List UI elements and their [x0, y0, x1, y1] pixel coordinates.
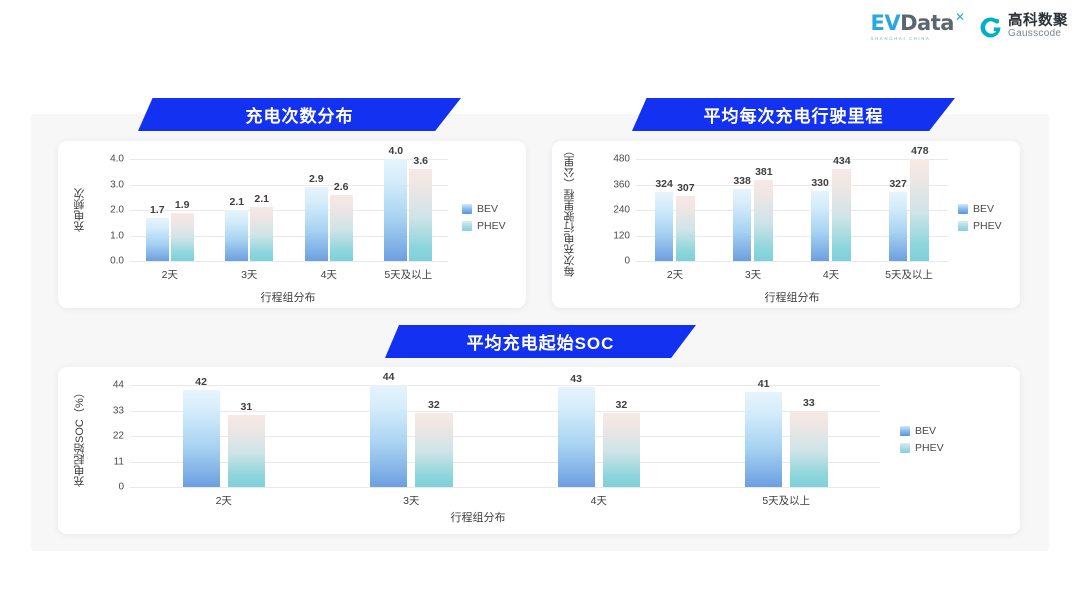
- chart-1-bar-group: 2.92.6: [305, 159, 353, 261]
- chart-2-bar-phev[interactable]: 381: [754, 180, 773, 261]
- chart-1-title-text: 充电次数分布: [246, 102, 354, 127]
- chart-3-legend-swatch-phev: [900, 443, 910, 453]
- chart-1-bar-value-label: 2.1: [230, 196, 245, 208]
- evdata-logo-ev-text: EV: [871, 13, 901, 34]
- chart-1-bar-phev[interactable]: 2.6: [330, 195, 353, 261]
- chart-3-x-tick-label: 3天: [403, 493, 419, 508]
- chart-2-bar-bev[interactable]: 324: [655, 192, 674, 261]
- chart-2-bar-bev[interactable]: 327: [889, 192, 908, 261]
- chart-3-bar-phev[interactable]: 33: [790, 411, 827, 488]
- chart-2-bar-value-label: 324: [655, 178, 673, 190]
- chart-2-legend-label-bev: BEV: [973, 203, 994, 215]
- gausscode-logo: 高科数聚 Gausscode: [979, 14, 1068, 40]
- chart-1-x-tick-label: 5天及以上: [384, 267, 432, 282]
- chart-2-bar-bev[interactable]: 330: [811, 191, 830, 261]
- chart-1-legend-item-phev[interactable]: PHEV: [462, 220, 506, 232]
- evdata-logo-subtitle: SHANGHAI CHINA: [871, 36, 931, 41]
- chart-3-legend-item-bev[interactable]: BEV: [900, 425, 944, 437]
- chart-3-bar-phev[interactable]: 32: [603, 413, 640, 487]
- chart-2-x-tick-label: 5天及以上: [885, 267, 933, 282]
- chart-1-y-tick-label: 0.0: [110, 256, 124, 267]
- chart-1-bar-group: 4.03.6: [384, 159, 432, 261]
- chart-2-x-tick-label: 3天: [745, 267, 761, 282]
- chart-2-plot-area: 01202403604803243073383813304343274782天3…: [636, 159, 948, 261]
- chart-2-legend-label-phev: PHEV: [973, 220, 1002, 232]
- chart-3-card: 充电起始SOC（%）01122334442314432433241332天3天4…: [58, 367, 1020, 534]
- chart-2-y-tick-label: 240: [613, 205, 630, 216]
- chart-3-y-tick-label: 33: [113, 405, 124, 416]
- chart-2-x-tick-label: 4天: [823, 267, 839, 282]
- chart-3-legend: BEVPHEV: [900, 425, 944, 454]
- chart-1-legend-swatch-bev: [462, 204, 472, 214]
- chart-2-legend-swatch-phev: [958, 221, 968, 231]
- chart-3-bar-value-label: 33: [803, 397, 815, 409]
- chart-2-bar-value-label: 307: [677, 182, 695, 194]
- chart-3-bar-value-label: 32: [428, 399, 440, 411]
- evdata-cross-icon: ✕: [955, 10, 965, 24]
- chart-1-bar-value-label: 2.1: [254, 193, 269, 205]
- chart-3-bar-group: 4432: [370, 385, 453, 487]
- chart-3-bar-phev[interactable]: 31: [228, 415, 265, 487]
- chart-3-bar-value-label: 41: [758, 378, 770, 390]
- chart-3-title-text: 平均充电起始SOC: [467, 329, 615, 354]
- chart-2-bar-value-label: 381: [755, 166, 773, 178]
- chart-3-bar-group: 4231: [183, 385, 266, 487]
- chart-2-legend-item-bev[interactable]: BEV: [958, 203, 1002, 215]
- gausscode-g-mark-icon: [979, 16, 1002, 39]
- chart-2-legend: BEVPHEV: [958, 203, 1002, 232]
- chart-2-bar-group: 324307: [655, 159, 696, 261]
- chart-2-card: 每次充电行驶里程（公里）0120240360480324307338381330…: [552, 141, 1020, 308]
- chart-2-bar-value-label: 338: [733, 175, 751, 187]
- chart-2-gridline: [636, 261, 948, 262]
- chart-3-bar-bev[interactable]: 42: [183, 390, 220, 487]
- chart-1-bar-value-label: 3.6: [413, 155, 428, 167]
- chart-3-plot-area: 01122334442314432433241332天3天4天5天及以上: [130, 385, 880, 487]
- chart-1-y-axis-title: 充电频次: [72, 171, 88, 249]
- chart-3-bar-value-label: 44: [383, 371, 395, 383]
- chart-1-bar-phev[interactable]: 3.6: [409, 169, 432, 261]
- chart-1-title-banner: 充电次数分布: [138, 98, 461, 131]
- chart-1-legend-label-phev: PHEV: [477, 220, 506, 232]
- chart-1-bar-group: 2.12.1: [225, 159, 273, 261]
- chart-1-y-tick-label: 3.0: [110, 179, 124, 190]
- chart-2-y-tick-label: 120: [613, 230, 630, 241]
- chart-3-x-tick-label: 2天: [216, 493, 232, 508]
- gausscode-logo-cn: 高科数聚: [1008, 14, 1068, 29]
- chart-2-bar-group: 327478: [889, 159, 930, 261]
- chart-3-gridline: [130, 487, 880, 488]
- chart-2-y-axis-title-line2: （公里）: [562, 145, 578, 189]
- chart-1-x-tick-label: 2天: [162, 267, 178, 282]
- chart-2-bar-phev[interactable]: 478: [910, 159, 929, 261]
- chart-1-bar-phev[interactable]: 2.1: [250, 207, 273, 261]
- chart-1-bar-bev[interactable]: 2.1: [225, 210, 248, 261]
- chart-2-body: 每次充电行驶里程（公里）0120240360480324307338381330…: [552, 141, 1020, 308]
- chart-3-y-tick-label: 0: [118, 482, 124, 493]
- chart-3-x-tick-label: 5天及以上: [762, 493, 810, 508]
- chart-3-y-axis-title: 充电起始SOC（%）: [72, 385, 88, 489]
- chart-1-y-tick-label: 2.0: [110, 205, 124, 216]
- chart-3-x-tick-label: 4天: [591, 493, 607, 508]
- chart-1-bar-value-label: 1.9: [175, 199, 190, 211]
- chart-3-bar-bev[interactable]: 43: [558, 387, 595, 487]
- chart-3-bar-phev[interactable]: 32: [415, 413, 452, 487]
- chart-2-bar-value-label: 330: [811, 177, 829, 189]
- chart-1-y-tick-label: 4.0: [110, 154, 124, 165]
- chart-3-title-banner: 平均充电起始SOC: [385, 325, 696, 358]
- chart-3-y-tick-label: 44: [113, 380, 124, 391]
- chart-1-x-tick-label: 3天: [241, 267, 257, 282]
- chart-2-bar-value-label: 327: [889, 178, 907, 190]
- chart-1-bar-bev[interactable]: 4.0: [384, 159, 407, 261]
- chart-2-y-axis-title: 每次充电行驶里程（公里）: [562, 157, 578, 265]
- chart-3-bar-value-label: 32: [616, 399, 628, 411]
- chart-2-bar-value-label: 434: [833, 155, 851, 167]
- chart-3-y-tick-label: 11: [114, 456, 124, 467]
- chart-1-bar-value-label: 2.9: [309, 173, 324, 185]
- chart-3-bar-group: 4332: [558, 385, 641, 487]
- chart-3-y-tick-label: 22: [113, 431, 124, 442]
- chart-3-y-axis-title-line1: 充电起始SOC: [72, 419, 88, 487]
- chart-2-bar-phev[interactable]: 434: [832, 169, 851, 261]
- gausscode-logo-en: Gausscode: [1008, 29, 1068, 40]
- chart-2-bar-group: 338381: [733, 159, 774, 261]
- chart-2-bar-group: 330434: [811, 159, 852, 261]
- chart-1-bars-layer: 1.71.92.12.12.92.64.03.6: [130, 159, 448, 261]
- chart-1-bar-bev[interactable]: 1.7: [146, 218, 169, 261]
- chart-3-bar-value-label: 43: [570, 373, 582, 385]
- chart-3-y-axis-title-line2: （%）: [72, 387, 88, 419]
- header-logo-bar: EV Data ✕ SHANGHAI CHINA 高科数聚 Gausscode: [871, 13, 1068, 41]
- chart-3-bar-bev[interactable]: 41: [745, 392, 782, 487]
- chart-1-bar-value-label: 1.7: [150, 204, 165, 216]
- chart-1-bar-phev[interactable]: 1.9: [171, 213, 194, 261]
- slide-page: EV Data ✕ SHANGHAI CHINA 高科数聚 Gausscode …: [0, 0, 1080, 608]
- evdata-logo-data-text: Data: [900, 13, 954, 34]
- chart-3-bar-value-label: 42: [195, 376, 207, 388]
- chart-3-body: 充电起始SOC（%）01122334442314432433241332天3天4…: [58, 367, 1020, 534]
- evdata-logo: EV Data ✕ SHANGHAI CHINA: [871, 13, 965, 41]
- chart-1-x-tick-label: 4天: [321, 267, 337, 282]
- chart-2-bar-phev[interactable]: 307: [676, 196, 695, 261]
- chart-3-x-axis-title: 行程组分布: [308, 509, 648, 525]
- chart-3-bar-bev[interactable]: 44: [370, 385, 407, 487]
- chart-2-y-axis-title-line1: 每次充电行驶里程: [562, 189, 578, 277]
- chart-2-title-banner: 平均每次充电行驶里程: [632, 98, 955, 131]
- chart-1-bar-group: 1.71.9: [146, 159, 194, 261]
- chart-1-legend-label-bev: BEV: [477, 203, 498, 215]
- chart-3-legend-item-phev[interactable]: PHEV: [900, 442, 944, 454]
- chart-2-y-tick-label: 480: [613, 154, 630, 165]
- chart-1-gridline: [130, 261, 448, 262]
- chart-1-y-tick-label: 1.0: [110, 230, 124, 241]
- chart-2-bar-value-label: 478: [911, 145, 929, 157]
- chart-1-bar-bev[interactable]: 2.9: [305, 187, 328, 261]
- chart-1-legend-item-bev[interactable]: BEV: [462, 203, 506, 215]
- evdata-logo-wordmark: EV Data ✕: [871, 13, 965, 34]
- chart-2-legend-item-phev[interactable]: PHEV: [958, 220, 1002, 232]
- chart-1-legend: BEVPHEV: [462, 203, 506, 232]
- chart-2-x-axis-title: 行程组分布: [622, 289, 962, 305]
- chart-3-legend-label-bev: BEV: [915, 425, 936, 437]
- chart-1-body: 充电频次0.01.02.03.04.01.71.92.12.12.92.64.0…: [58, 141, 526, 308]
- chart-2-legend-swatch-bev: [958, 204, 968, 214]
- gausscode-logo-text: 高科数聚 Gausscode: [1008, 14, 1068, 40]
- chart-2-y-tick-label: 360: [613, 179, 630, 190]
- chart-2-title-text: 平均每次充电行驶里程: [704, 102, 884, 127]
- chart-1-plot-area: 0.01.02.03.04.01.71.92.12.12.92.64.03.62…: [130, 159, 448, 261]
- chart-3-bar-group: 4133: [745, 385, 828, 487]
- chart-1-x-axis-title: 行程组分布: [118, 289, 458, 305]
- chart-1-bar-value-label: 4.0: [389, 145, 404, 157]
- chart-1-card: 充电频次0.01.02.03.04.01.71.92.12.12.92.64.0…: [58, 141, 526, 308]
- chart-3-bar-value-label: 31: [241, 401, 253, 413]
- chart-3-bars-layer: 4231443243324133: [130, 385, 880, 487]
- chart-2-bars-layer: 324307338381330434327478: [636, 159, 948, 261]
- chart-2-bar-bev[interactable]: 338: [733, 189, 752, 261]
- chart-1-bar-value-label: 2.6: [334, 181, 349, 193]
- chart-3-legend-label-phev: PHEV: [915, 442, 944, 454]
- chart-2-x-tick-label: 2天: [667, 267, 683, 282]
- chart-2-y-tick-label: 0: [624, 256, 630, 267]
- chart-3-legend-swatch-bev: [900, 426, 910, 436]
- chart-1-legend-swatch-phev: [462, 221, 472, 231]
